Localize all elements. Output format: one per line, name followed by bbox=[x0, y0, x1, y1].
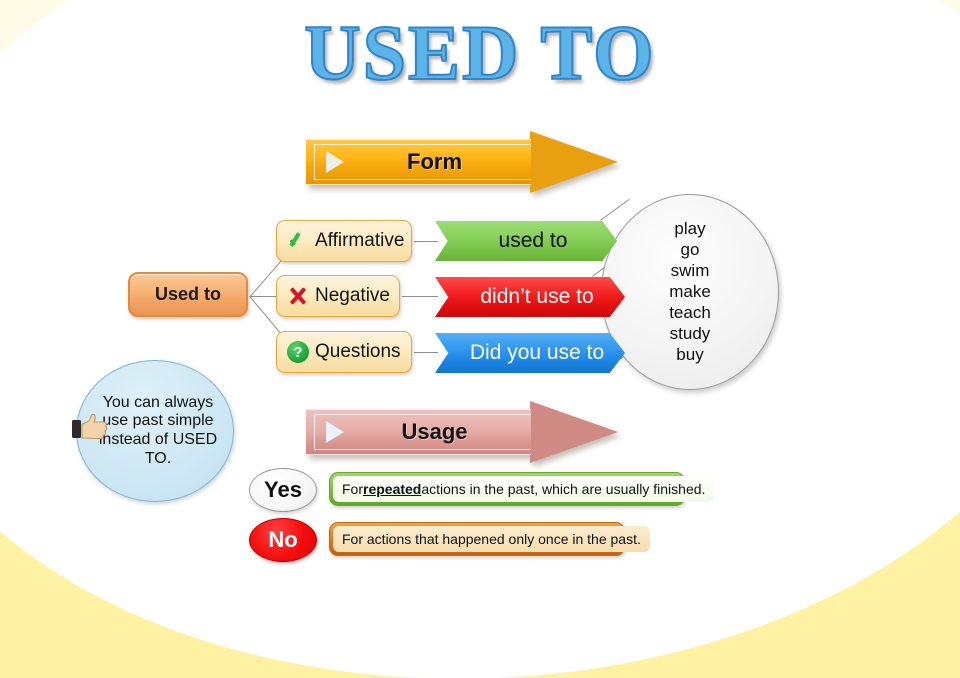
category-negative[interactable]: Negative bbox=[276, 275, 400, 317]
category-negative-label: Negative bbox=[315, 285, 390, 307]
form-arrow-shaft: Form bbox=[306, 139, 531, 185]
verb-item: teach bbox=[669, 303, 711, 323]
connector-negative-to-structure bbox=[402, 296, 438, 297]
structure-affirmative[interactable]: used to bbox=[435, 221, 617, 261]
verb-item: make bbox=[669, 282, 711, 302]
usage-section-label: Usage bbox=[344, 419, 525, 445]
structure-question[interactable]: Did you use to bbox=[435, 333, 625, 373]
usage-rule-yes-panel: For repeated actions in the past, which … bbox=[333, 476, 714, 502]
category-affirmative-label: Affirmative bbox=[315, 230, 404, 252]
marker-yes: Yes bbox=[249, 468, 317, 512]
page-title: USED TO bbox=[0, 14, 960, 92]
usage-section-arrow: Usage bbox=[306, 401, 618, 463]
green-check-icon bbox=[287, 230, 309, 252]
marker-no: No bbox=[249, 518, 317, 562]
triangle-right-icon bbox=[326, 421, 344, 443]
connector-questions-to-structure bbox=[414, 352, 438, 353]
form-arrow-head bbox=[530, 131, 618, 193]
slide-canvas: USED TO Form Used to Affirmative Negativ… bbox=[0, 0, 960, 678]
structure-affirmative-label: used to bbox=[499, 229, 568, 253]
structure-negative-label: didn’t use to bbox=[480, 285, 593, 309]
structure-negative[interactable]: didn’t use to bbox=[435, 277, 625, 317]
usage-rule-no-text: For actions that happened only once in t… bbox=[342, 531, 641, 547]
verb-item: swim bbox=[671, 261, 710, 281]
verb-item: buy bbox=[676, 345, 703, 365]
tip-callout-circle: You can always use past simple instead o… bbox=[76, 360, 234, 502]
form-section-label: Form bbox=[344, 149, 525, 175]
verb-item: study bbox=[670, 324, 711, 344]
verb-item: go bbox=[681, 240, 700, 260]
connector-root-to-negative bbox=[250, 296, 278, 297]
usage-rule-yes-text-before: For bbox=[342, 481, 363, 497]
root-node-label: Used to bbox=[155, 284, 221, 305]
category-questions-label: Questions bbox=[315, 341, 401, 363]
root-node-used-to[interactable]: Used to bbox=[128, 272, 248, 317]
red-x-icon bbox=[287, 285, 309, 307]
form-section-arrow: Form bbox=[306, 131, 618, 193]
structure-question-label: Did you use to bbox=[470, 341, 604, 365]
green-question-icon: ? bbox=[287, 341, 309, 363]
usage-rule-no: For actions that happened only once in t… bbox=[329, 522, 625, 556]
usage-rule-yes-emphasis: repeated bbox=[363, 481, 421, 497]
usage-rule-no-panel: For actions that happened only once in t… bbox=[333, 526, 650, 552]
category-affirmative[interactable]: Affirmative bbox=[276, 220, 412, 262]
verb-item: play bbox=[674, 219, 705, 239]
marker-no-label: No bbox=[268, 527, 297, 553]
triangle-right-icon bbox=[326, 151, 344, 173]
category-questions[interactable]: ? Questions bbox=[276, 331, 412, 373]
thumbs-up-icon bbox=[71, 413, 115, 443]
marker-yes-label: Yes bbox=[264, 477, 302, 503]
usage-arrow-shaft: Usage bbox=[306, 409, 531, 455]
usage-rule-yes-text-after: actions in the past, which are usually f… bbox=[421, 481, 705, 497]
connector-affirmative-to-structure bbox=[414, 241, 438, 242]
usage-rule-yes: For repeated actions in the past, which … bbox=[329, 472, 685, 506]
usage-arrow-head bbox=[530, 401, 618, 463]
verb-list-circle: play go swim make teach study buy bbox=[601, 194, 779, 390]
